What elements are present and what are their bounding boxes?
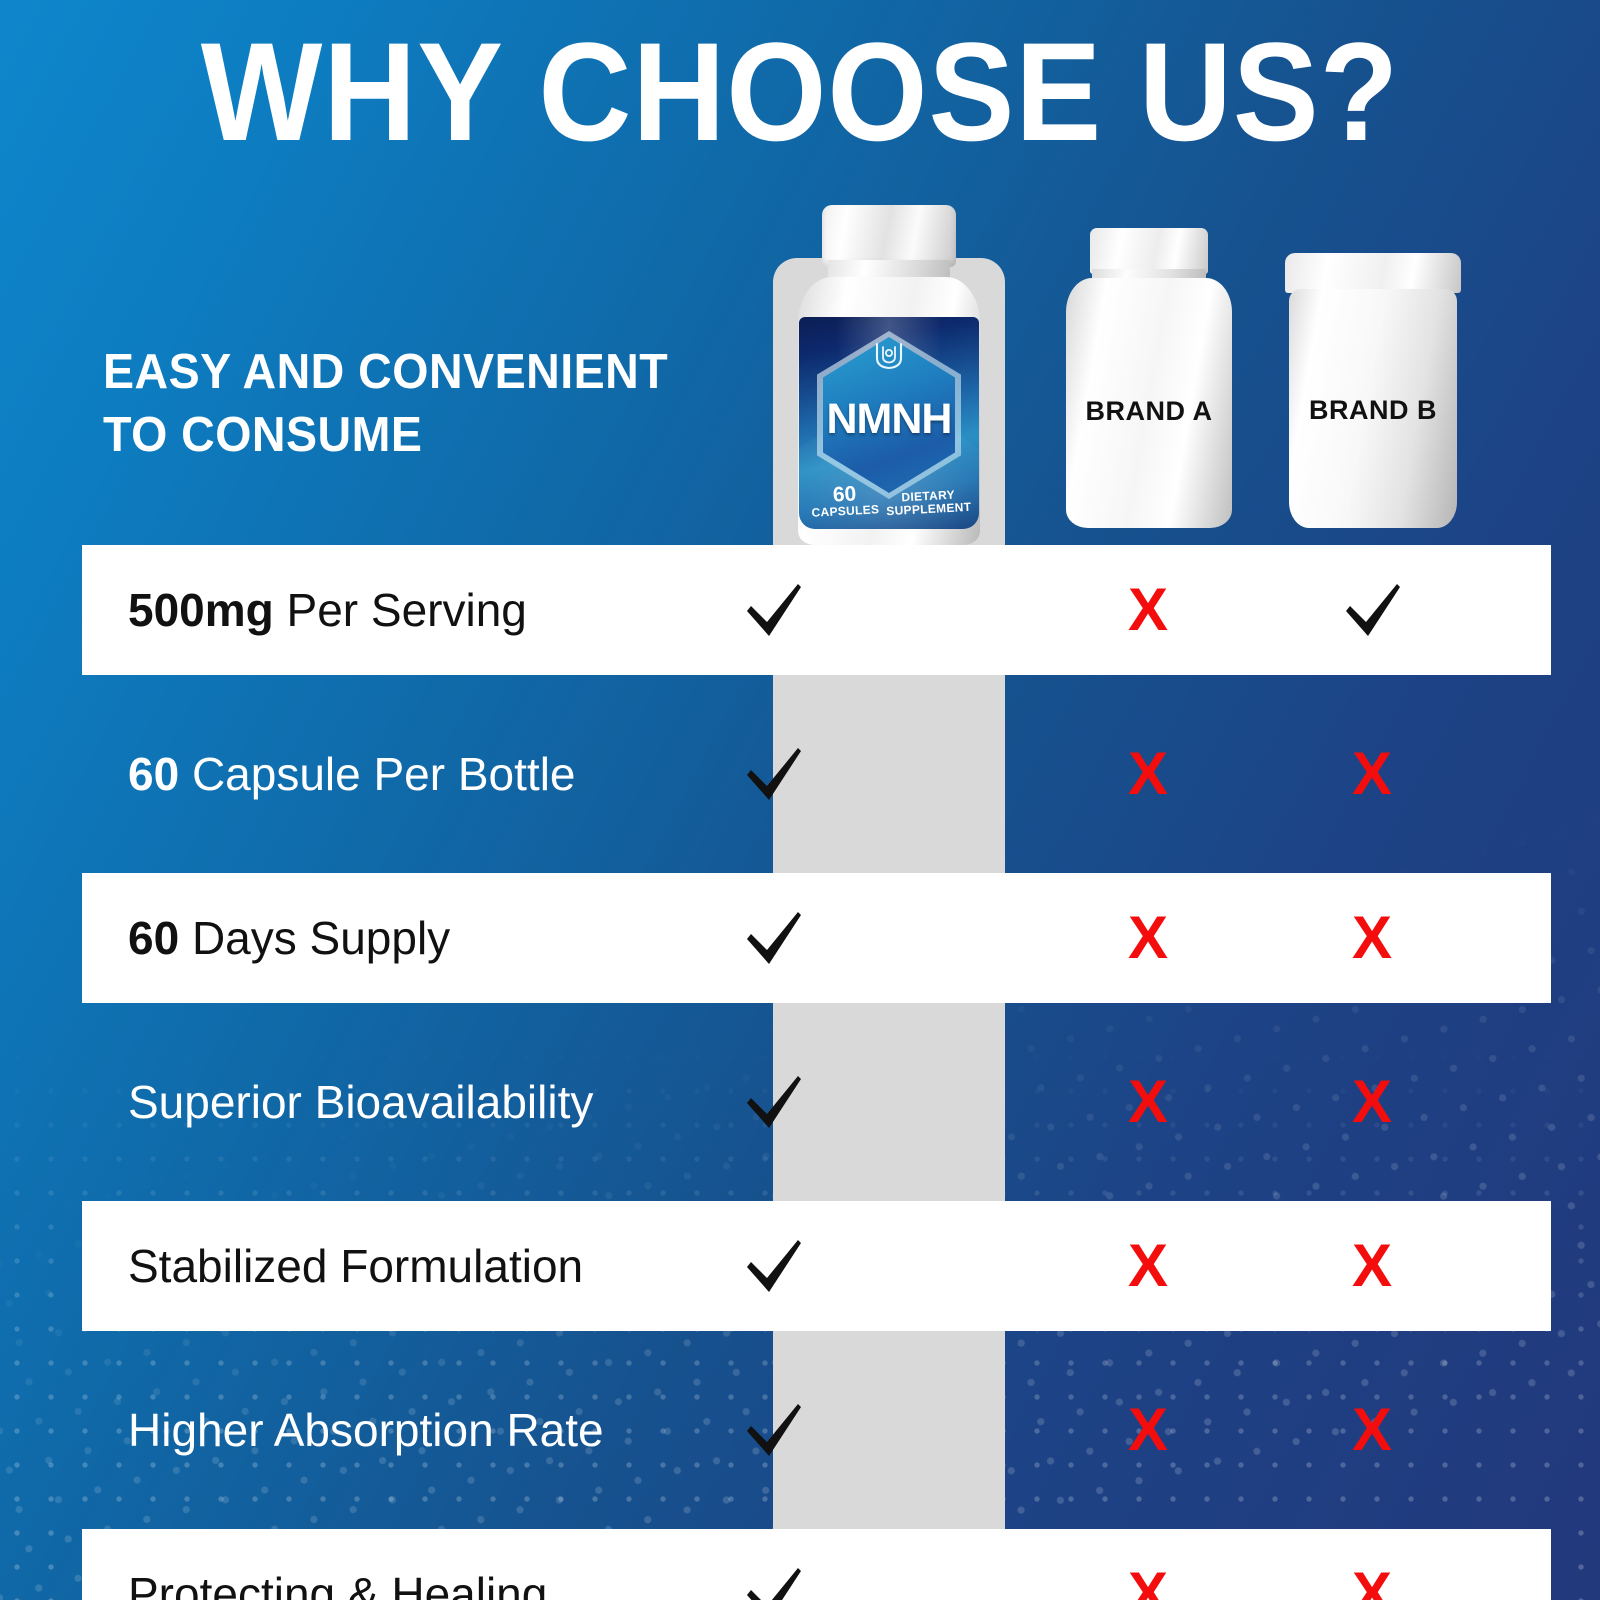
cross-icon: X [1128, 1396, 1168, 1463]
mark-brand-b: X [1312, 1236, 1432, 1296]
feature-label-text: Superior Bioavailability [128, 1076, 593, 1128]
brand-b-cap [1285, 253, 1461, 293]
mark-brand-b: X [1312, 1400, 1432, 1460]
table-row: 60 Days SupplyXX [82, 873, 1551, 1003]
mark-brand-a: X [1088, 580, 1208, 640]
mark-ours [713, 578, 833, 642]
bottle-label: NMNH 60 CAPSULES DIETARY SUPPLEMENT [799, 317, 979, 529]
feature-label: 60 Days Supply [128, 914, 450, 962]
table-row: 500mg Per ServingX [82, 545, 1551, 675]
dietary-supplement-label: DIETARY SUPPLEMENT [885, 488, 971, 519]
mark-brand-b [1312, 578, 1432, 642]
cross-icon: X [1352, 1068, 1392, 1135]
cross-icon: X [1352, 1396, 1392, 1463]
brand-b-label: BRAND B [1283, 395, 1463, 426]
feature-label-text: Capsule Per Bottle [179, 748, 575, 800]
check-icon [741, 906, 805, 970]
mark-brand-b: X [1312, 744, 1432, 804]
table-row: Higher Absorption RateXX [82, 1365, 1551, 1495]
table-row: Superior BioavailabilityXX [82, 1037, 1551, 1167]
capsule-count: 60 CAPSULES [810, 482, 879, 519]
mark-brand-a: X [1088, 1236, 1208, 1296]
check-icon [741, 1398, 805, 1462]
check-icon [1340, 578, 1404, 642]
mark-brand-a: X [1088, 908, 1208, 968]
feature-label-text: Higher Absorption Rate [128, 1404, 604, 1456]
mark-brand-b: X [1312, 908, 1432, 968]
cross-icon: X [1352, 1560, 1392, 1600]
check-icon [741, 578, 805, 642]
cross-icon: X [1352, 904, 1392, 971]
mark-ours [713, 1070, 833, 1134]
mark-ours [713, 1562, 833, 1600]
cross-icon: X [1128, 904, 1168, 971]
cross-icon: X [1128, 576, 1168, 643]
feature-label: Stabilized Formulation [128, 1242, 583, 1290]
check-icon [741, 1234, 805, 1298]
cross-icon: X [1128, 1068, 1168, 1135]
brand-a-cap [1090, 228, 1208, 274]
shield-u-logo-icon [872, 341, 906, 371]
product-bottle-nmnh: NMNH 60 CAPSULES DIETARY SUPPLEMENT [768, 205, 1010, 550]
cross-icon: X [1352, 1232, 1392, 1299]
feature-label-emphasis: 500mg [128, 584, 274, 636]
cross-icon: X [1128, 1232, 1168, 1299]
cross-icon: X [1128, 740, 1168, 807]
mark-ours [713, 1398, 833, 1462]
feature-label-text: Per Serving [274, 584, 527, 636]
mark-ours [713, 906, 833, 970]
comparison-table: 500mg Per ServingX60 Capsule Per BottleX… [82, 545, 1551, 1600]
promo-poster: WHY CHOOSE US? EASY AND CONVENIENT TO CO… [0, 0, 1600, 1600]
mark-brand-a: X [1088, 1564, 1208, 1600]
check-icon [741, 1070, 805, 1134]
table-row: Protecting & HealingXX [82, 1529, 1551, 1600]
mark-brand-a: X [1088, 1400, 1208, 1460]
cross-icon: X [1352, 740, 1392, 807]
feature-label-emphasis: 60 [128, 748, 179, 800]
page-title: WHY CHOOSE US? [64, 22, 1536, 162]
feature-label-text: Days Supply [179, 912, 450, 964]
feature-label: 60 Capsule Per Bottle [128, 750, 576, 798]
competitor-bottle-brand-a: BRAND A [1058, 228, 1240, 528]
check-icon [741, 1562, 805, 1600]
product-name-label: NMNH [799, 395, 979, 444]
brand-a-label: BRAND A [1058, 396, 1240, 427]
mark-ours [713, 1234, 833, 1298]
cross-icon: X [1128, 1560, 1168, 1600]
subheading-line-2: TO CONSUME [103, 404, 730, 467]
subheading-line-1: EASY AND CONVENIENT [103, 341, 730, 404]
table-row: Stabilized FormulationXX [82, 1201, 1551, 1331]
table-row: 60 Capsule Per BottleXX [82, 709, 1551, 839]
competitor-bottle-brand-b: BRAND B [1283, 253, 1463, 528]
feature-label: Protecting & Healing [128, 1570, 547, 1600]
bottle-cap [822, 205, 956, 267]
feature-label: 500mg Per Serving [128, 586, 527, 634]
mark-brand-a: X [1088, 744, 1208, 804]
feature-label-text: Protecting & Healing [128, 1568, 547, 1600]
feature-label-emphasis: 60 [128, 912, 179, 964]
capsule-count-word: CAPSULES [811, 503, 879, 519]
feature-label-text: Stabilized Formulation [128, 1240, 583, 1292]
mark-brand-a: X [1088, 1072, 1208, 1132]
dietary-line-2: SUPPLEMENT [886, 500, 972, 518]
subheading: EASY AND CONVENIENT TO CONSUME [103, 341, 730, 466]
mark-brand-b: X [1312, 1564, 1432, 1600]
check-icon [741, 742, 805, 806]
feature-label: Higher Absorption Rate [128, 1406, 604, 1454]
mark-brand-b: X [1312, 1072, 1432, 1132]
feature-label: Superior Bioavailability [128, 1078, 593, 1126]
mark-ours [713, 742, 833, 806]
